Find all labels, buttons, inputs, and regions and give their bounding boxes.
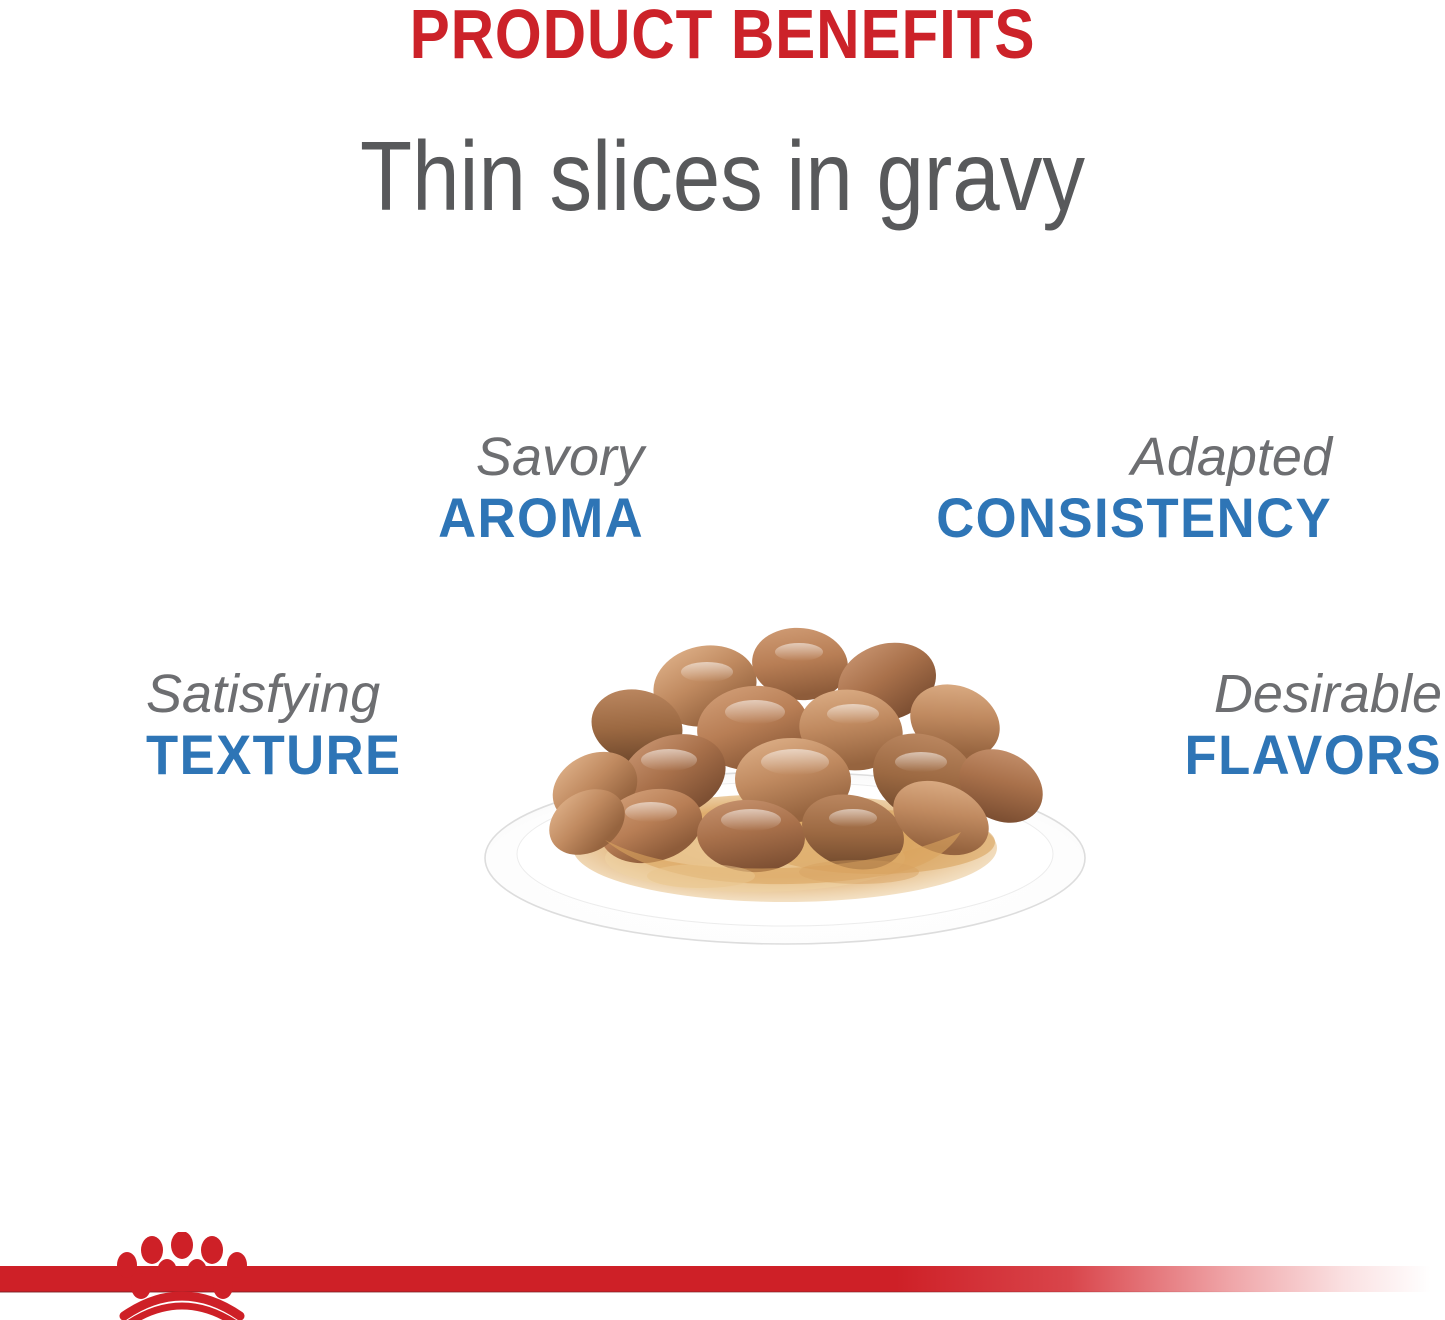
benefit-consistency-noun: CONSISTENCY	[832, 490, 1332, 546]
page-eyebrow-title: PRODUCT BENEFITS	[101, 0, 1344, 73]
page-title: Thin slices in gravy	[94, 124, 1351, 230]
benefit-aroma-noun: AROMA	[268, 490, 644, 546]
product-benefits-page: PRODUCT BENEFITS Thin slices in gravy Sa…	[0, 0, 1445, 1320]
crown-arcs	[124, 1296, 240, 1320]
royal-canin-crown-logo	[96, 1232, 268, 1320]
benefit-consistency-adjective: Adapted	[800, 430, 1332, 484]
product-food-photo	[455, 590, 1115, 970]
benefit-consistency: Adapted CONSISTENCY	[800, 430, 1332, 546]
benefit-aroma-adjective: Savory	[244, 430, 644, 484]
crown-dots	[117, 1232, 247, 1299]
benefit-aroma: Savory AROMA	[244, 430, 644, 546]
